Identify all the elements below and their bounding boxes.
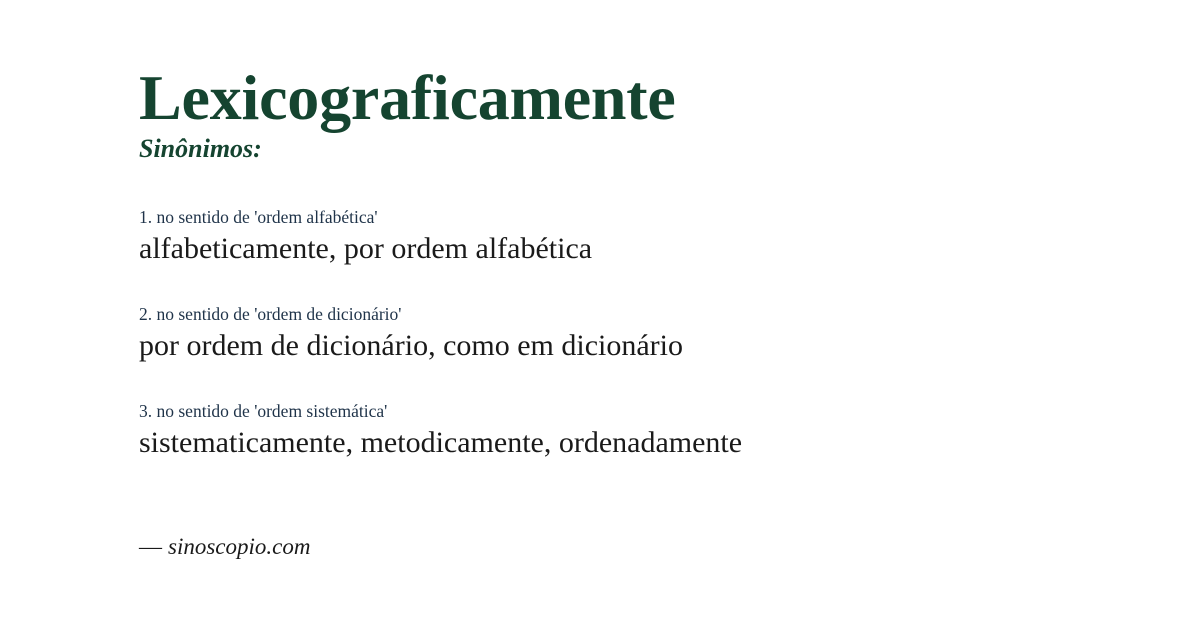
sense-synonyms: alfabeticamente, por ordem alfabética (139, 231, 1159, 267)
sense-synonyms: sistematicamente, metodicamente, ordenad… (139, 425, 1159, 461)
source-name: sinoscopio.com (168, 534, 310, 559)
sense-label: 1. no sentido de 'ordem alfabética' (139, 207, 1159, 229)
em-dash-icon: — (139, 534, 168, 559)
sense-synonyms: por ordem de dicionário, como em dicioná… (139, 328, 1159, 364)
sense-label: 2. no sentido de 'ordem de dicionário' (139, 304, 1159, 326)
synonym-card: Lexicograficamente Sinônimos: 1. no sent… (0, 0, 1200, 628)
sense-entry: 3. no sentido de 'ordem sistemática' sis… (139, 401, 1159, 461)
page-title: Lexicograficamente (139, 66, 676, 130)
sense-label: 3. no sentido de 'ordem sistemática' (139, 401, 1159, 423)
sense-list: 1. no sentido de 'ordem alfabética' alfa… (139, 207, 1159, 461)
synonyms-heading: Sinônimos: (139, 136, 262, 162)
source-attribution: —sinoscopio.com (139, 533, 310, 561)
sense-entry: 1. no sentido de 'ordem alfabética' alfa… (139, 207, 1159, 267)
sense-entry: 2. no sentido de 'ordem de dicionário' p… (139, 304, 1159, 364)
